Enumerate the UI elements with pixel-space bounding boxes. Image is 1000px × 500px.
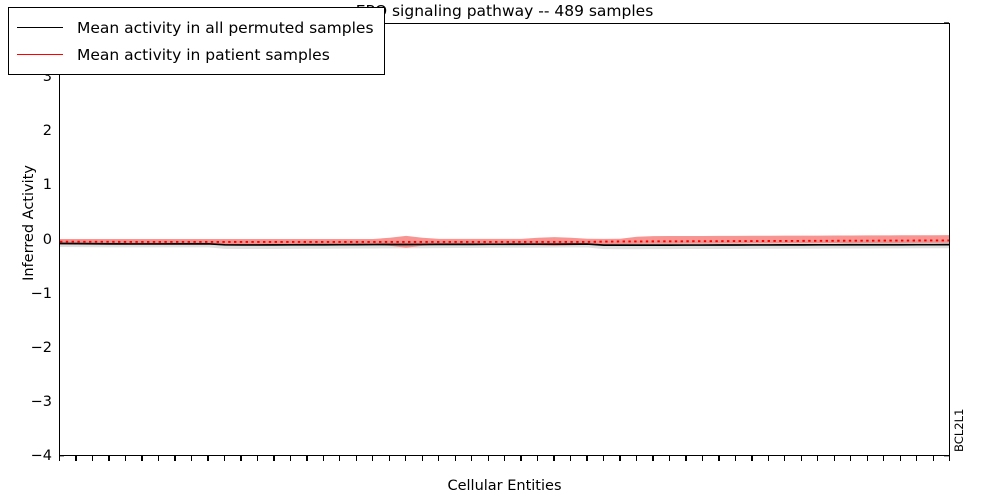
x-tick-mark (75, 456, 76, 461)
x-tick-mark (784, 456, 785, 461)
series-canvas (60, 24, 950, 456)
x-tick-mark (323, 456, 324, 461)
x-tick-mark (603, 456, 604, 461)
x-tick-mark (92, 456, 93, 461)
x-tick-mark (933, 456, 934, 461)
x-tick-mark (916, 456, 917, 461)
y-tick-label: −2 (10, 341, 52, 356)
x-tick-mark (191, 456, 192, 461)
x-tick-mark (405, 456, 406, 461)
x-tick-mark (356, 456, 357, 461)
x-tick-mark (900, 456, 901, 461)
legend-swatch-permuted (17, 27, 63, 28)
x-tick-mark (537, 456, 538, 461)
x-tick-mark (834, 456, 835, 461)
x-tick-mark (257, 456, 258, 461)
x-tick-mark (669, 456, 670, 461)
x-tick-mark (372, 456, 373, 461)
y-tick-label: 0 (10, 232, 52, 247)
x-tick-mark (339, 456, 340, 461)
x-tick-mark (801, 456, 802, 461)
x-tick-mark (59, 456, 60, 461)
legend-label-patient: Mean activity in patient samples (77, 46, 330, 64)
x-tick-mark (224, 456, 225, 461)
x-tick-mark (718, 456, 719, 461)
legend-item-permuted: Mean activity in all permuted samples (17, 14, 374, 41)
x-tick-mark (488, 456, 489, 461)
legend: Mean activity in all permuted samples Me… (8, 7, 385, 75)
y-tick-label: 1 (10, 178, 52, 193)
x-tick-mark (735, 456, 736, 461)
legend-label-permuted: Mean activity in all permuted samples (77, 19, 374, 37)
x-tick-mark (570, 456, 571, 461)
x-tick-mark (290, 456, 291, 461)
x-tick-mark (158, 456, 159, 461)
x-tick-mark (685, 456, 686, 461)
x-tick-mark (817, 456, 818, 461)
x-tick-mark (652, 456, 653, 461)
legend-item-patient: Mean activity in patient samples (17, 41, 374, 68)
x-tick-mark (422, 456, 423, 461)
x-tick-mark (636, 456, 637, 461)
x-axis-label: Cellular Entities (59, 478, 950, 494)
x-tick-mark (207, 456, 208, 461)
x-tick-mark (883, 456, 884, 461)
y-tick-label: −4 (10, 449, 52, 464)
y-tick-label: −3 (10, 395, 52, 410)
x-tick-mark (768, 456, 769, 461)
x-tick-mark (273, 456, 274, 461)
x-tick-mark (455, 456, 456, 461)
y-tick-label: 2 (10, 124, 52, 139)
x-tick-mark (520, 456, 521, 461)
x-tick-mark (553, 456, 554, 461)
x-tick-mark (504, 456, 505, 461)
x-tick-mark (438, 456, 439, 461)
chart-root: EPO signaling pathway -- 489 samples Inf… (0, 0, 1000, 500)
x-tick-mark (619, 456, 620, 461)
x-tick-mark (949, 456, 950, 461)
x-tick-mark (702, 456, 703, 461)
x-tick-mark (240, 456, 241, 461)
x-tick-mark (125, 456, 126, 461)
x-tick-mark (389, 456, 390, 461)
x-tick-mark (141, 456, 142, 461)
x-tick-mark (306, 456, 307, 461)
y-tick-label: −1 (10, 286, 52, 301)
x-tick-mark (586, 456, 587, 461)
x-tick-mark (108, 456, 109, 461)
legend-swatch-patient (17, 54, 63, 55)
x-tick-mark (850, 456, 851, 461)
x-tick-label: BCL2L1 (954, 408, 966, 452)
x-tick-mark (751, 456, 752, 461)
x-tick-mark (867, 456, 868, 461)
x-tick-mark (174, 456, 175, 461)
plot-area (59, 23, 950, 456)
x-tick-mark (471, 456, 472, 461)
